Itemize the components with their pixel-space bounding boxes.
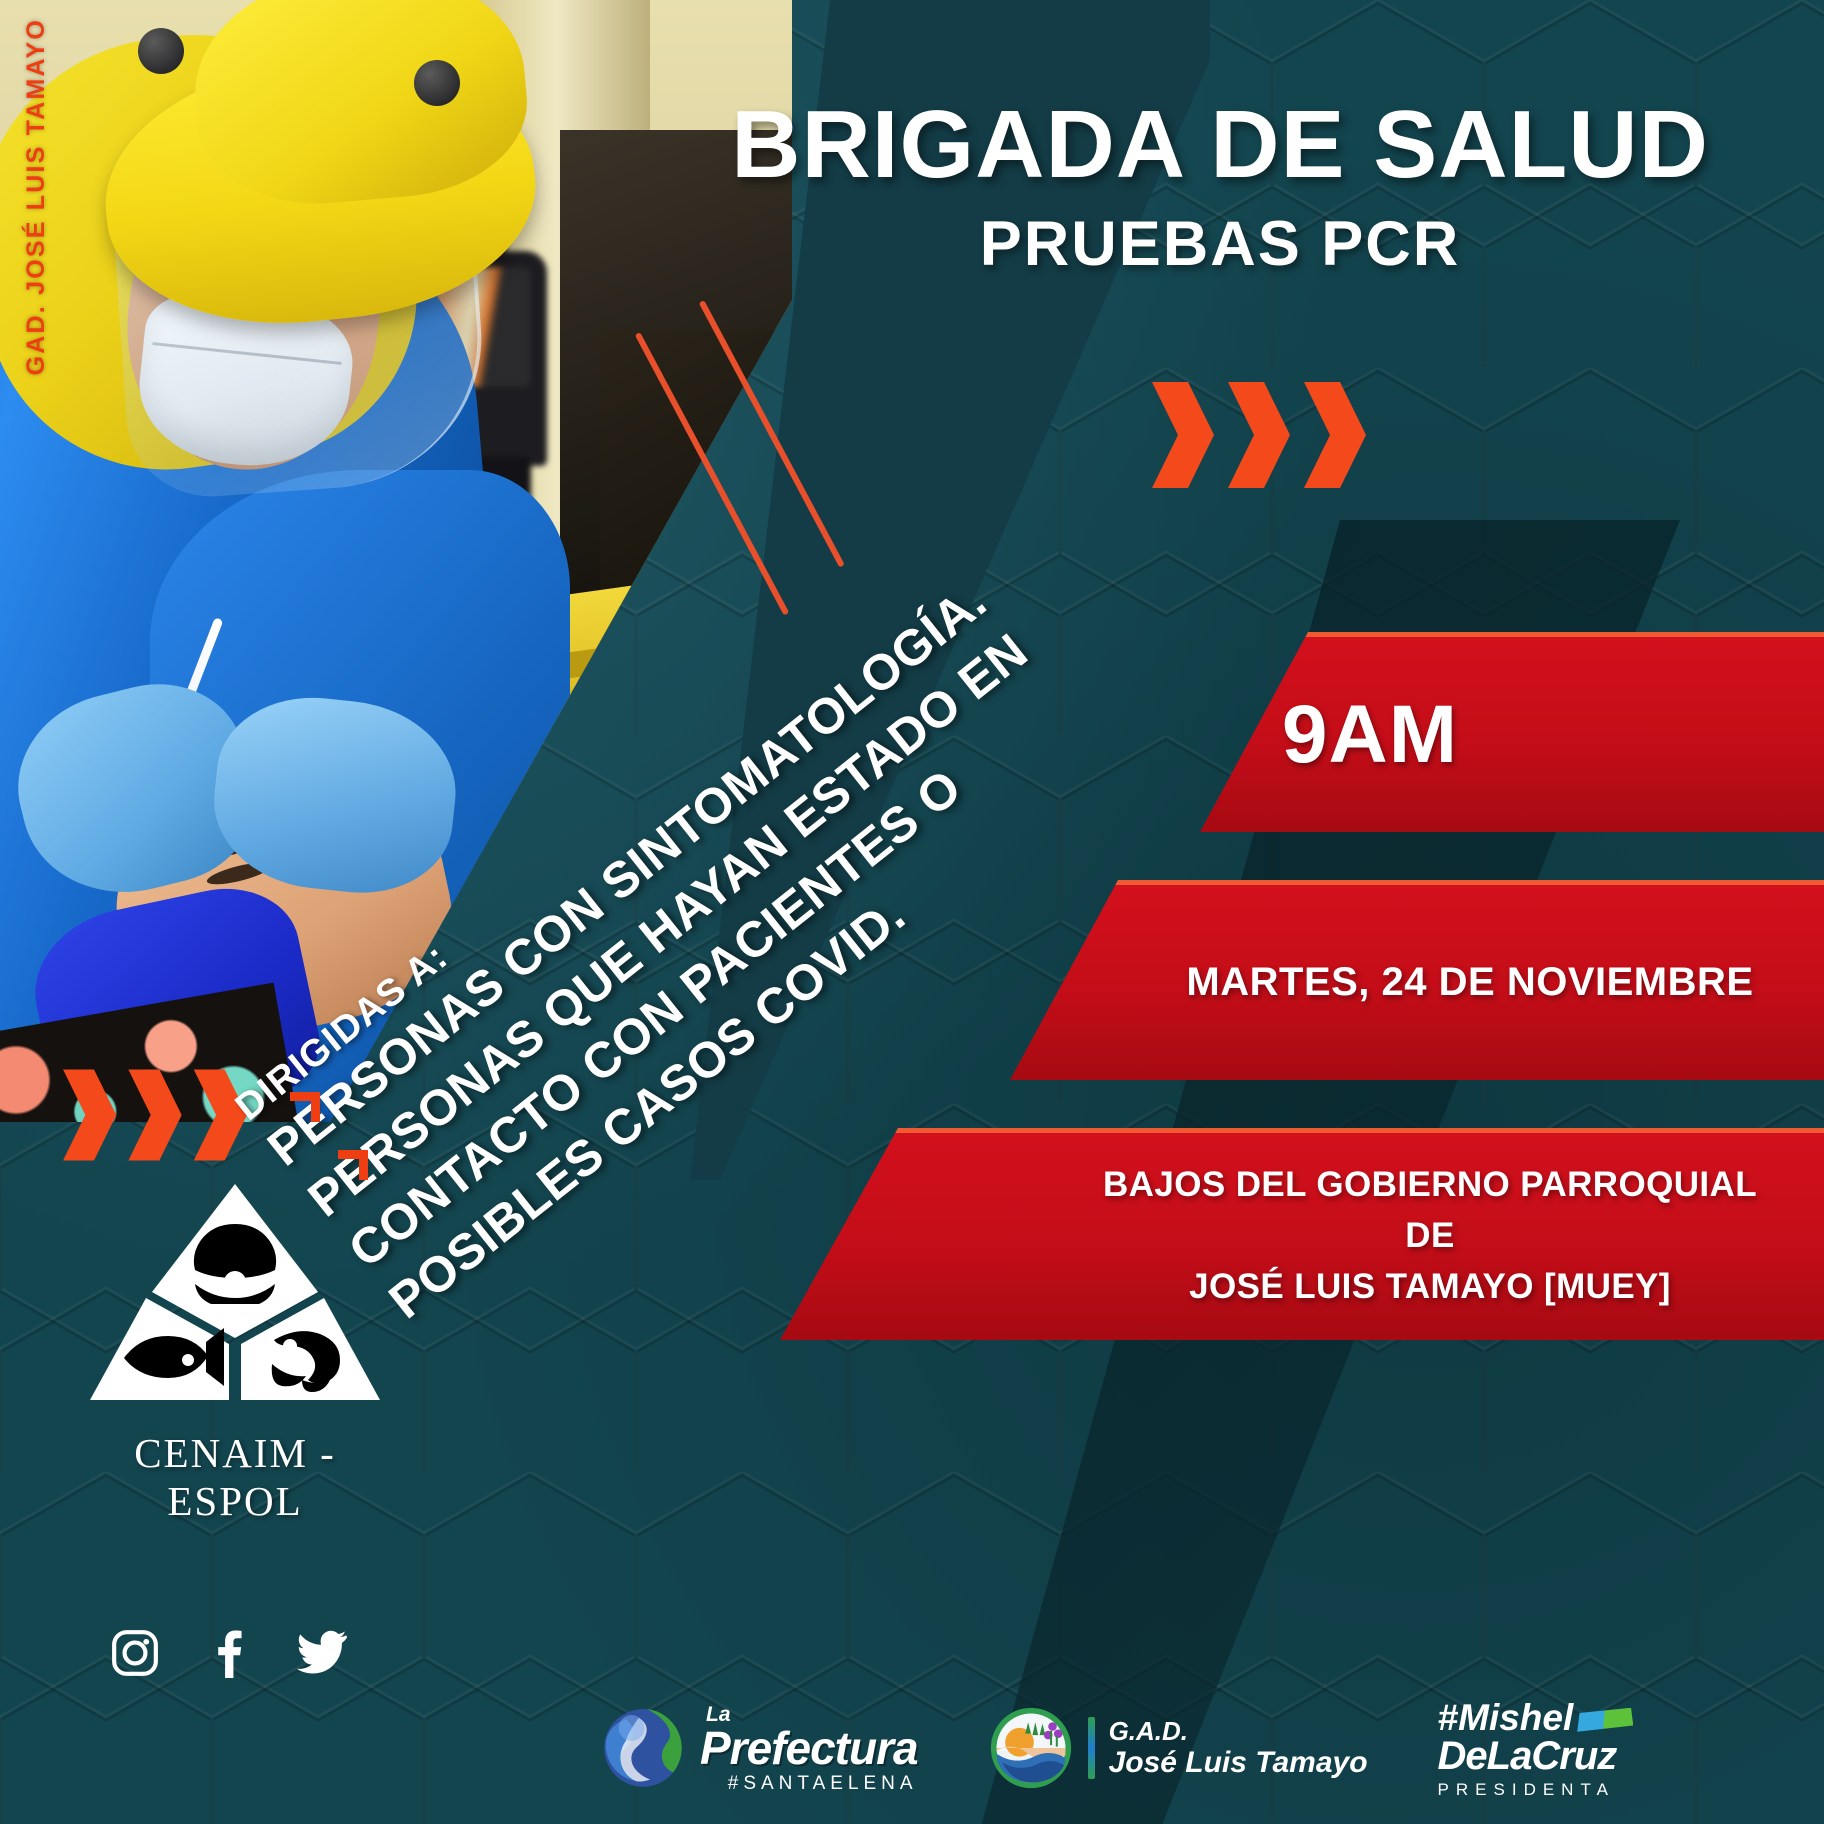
prefectura-globe-icon (600, 1705, 686, 1791)
mishel-line-1: #Mishel (1438, 1699, 1634, 1736)
chevron-right-icon (1152, 382, 1214, 488)
bracket-marker (290, 1092, 320, 1122)
chevron-right-icon (194, 1069, 247, 1160)
brush-stroke-icon (1577, 1708, 1633, 1732)
instagram-icon[interactable] (110, 1628, 160, 1678)
location-line-1: BAJOS DEL GOBIERNO PARROQUIAL DE (1103, 1165, 1757, 1255)
headline-line-2: PRUEBAS PCR (660, 208, 1780, 280)
prefectura-name: Prefectura (700, 1725, 918, 1771)
cenaim-label: CENAIM - ESPOL (80, 1429, 390, 1525)
location-banner: BAJOS DEL GOBIERNO PARROQUIAL DE JOSÉ LU… (780, 1128, 1824, 1340)
date-value: MARTES, 24 DE NOVIEMBRE (1186, 960, 1753, 1005)
chevron-right-icon (128, 1069, 181, 1160)
gad-landscape-icon (988, 1705, 1074, 1791)
vertical-brand-label: GAD. JOSÉ LUIS TAMAYO (22, 18, 51, 375)
location-value: BAJOS DEL GOBIERNO PARROQUIAL DE JOSÉ LU… (1080, 1160, 1780, 1312)
twitter-icon[interactable] (296, 1630, 348, 1676)
poster-canvas: GAD. JOSÉ LUIS TAMAYO BRIGADA DE SALUD P… (0, 0, 1824, 1824)
chevron-right-icon (1228, 382, 1290, 488)
time-value: 9AM (1282, 688, 1458, 782)
location-line-2: JOSÉ LUIS TAMAYO [MUEY] (1189, 1267, 1671, 1306)
cenaim-triangle-icon (80, 1178, 390, 1418)
chevron-group-left (63, 1069, 247, 1160)
chevron-right-icon (63, 1069, 116, 1160)
gad-logo: G.A.D. José Luis Tamayo (988, 1705, 1368, 1791)
cenaim-espol-logo: CENAIM - ESPOL (80, 1178, 390, 1525)
prefectura-logo: La Prefectura #SANTAELENA (600, 1704, 918, 1793)
mishel-logo: #Mishel DeLaCruz PRESIDENTA (1438, 1699, 1634, 1798)
chevron-group-right (1152, 382, 1366, 488)
facebook-icon[interactable] (212, 1628, 244, 1678)
mishel-line-2: DeLaCruz (1438, 1736, 1634, 1776)
social-links (110, 1628, 348, 1678)
page-title: BRIGADA DE SALUD PRUEBAS PCR (660, 96, 1780, 280)
headline-line-1: BRIGADA DE SALUD (660, 96, 1780, 194)
prefectura-hashtag: #SANTAELENA (700, 1774, 918, 1793)
footer-logo-row: La Prefectura #SANTAELENA (600, 1672, 1824, 1824)
mishel-line-3: PRESIDENTA (1438, 1781, 1634, 1798)
gad-line-1: G.A.D. (1109, 1717, 1368, 1746)
date-banner: MARTES, 24 DE NOVIEMBRE (1010, 880, 1824, 1080)
bracket-marker (338, 1150, 368, 1180)
chevron-right-icon (1304, 382, 1366, 488)
gad-line-2: José Luis Tamayo (1109, 1746, 1368, 1780)
time-banner: 9AM (1200, 632, 1824, 832)
